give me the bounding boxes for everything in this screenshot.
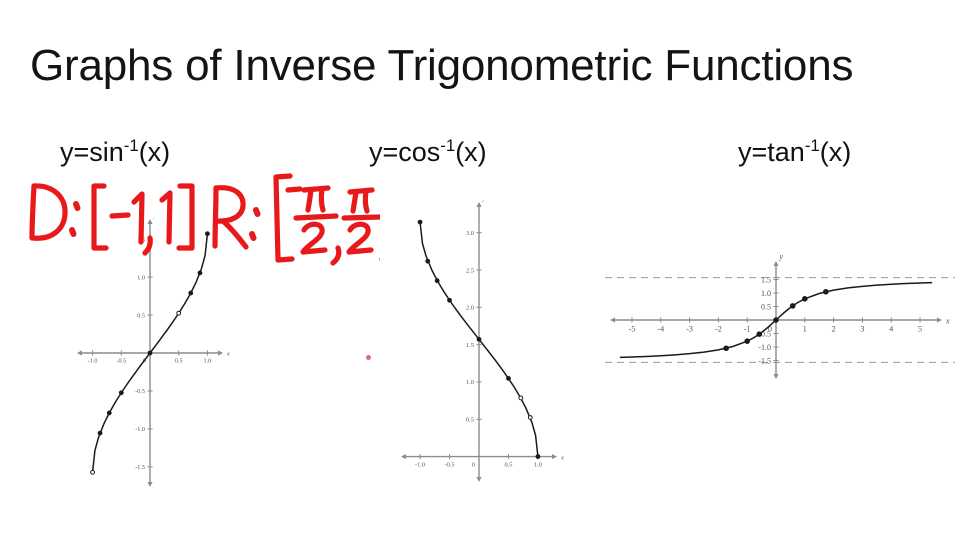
svg-text:2.0: 2.0 bbox=[466, 305, 474, 312]
stray-red-mark bbox=[366, 355, 371, 360]
svg-text:x: x bbox=[560, 454, 564, 461]
svg-text:-4: -4 bbox=[657, 325, 664, 334]
svg-text:0.5: 0.5 bbox=[504, 461, 512, 468]
svg-text:0.5: 0.5 bbox=[466, 417, 474, 424]
svg-text:-1.0: -1.0 bbox=[88, 358, 98, 365]
svg-text:y: y bbox=[482, 200, 486, 202]
panel-label-arcsin: y=sin-1(x) bbox=[60, 136, 170, 168]
svg-text:1: 1 bbox=[803, 325, 807, 334]
svg-text:1.5: 1.5 bbox=[137, 236, 145, 243]
chart-arctan: xy-5-4-3-2-112345-1.5-1.0-0.50.51.01.50 bbox=[605, 250, 955, 390]
panel-label-arcsin-exponent: -1 bbox=[124, 136, 139, 155]
panel-label-arctan-prefix: y=tan bbox=[738, 137, 805, 167]
svg-text:1.5: 1.5 bbox=[761, 275, 771, 284]
svg-text:1.0: 1.0 bbox=[761, 289, 771, 298]
panel-label-arcsin-prefix: y=sin bbox=[60, 137, 124, 167]
svg-text:-1.0: -1.0 bbox=[135, 426, 145, 433]
panel-label-arctan-suffix: (x) bbox=[820, 137, 851, 167]
panel-label-arctan: y=tan-1(x) bbox=[738, 136, 851, 168]
svg-text:-5: -5 bbox=[629, 325, 636, 334]
panel-label-arccos-suffix: (x) bbox=[455, 137, 486, 167]
svg-text:-1: -1 bbox=[744, 325, 751, 334]
svg-text:-1.0: -1.0 bbox=[758, 343, 771, 352]
chart-arccos-svg: xy-1.0-0.50.51.00.51.01.52.02.53.00 bbox=[355, 200, 565, 496]
svg-text:x: x bbox=[226, 351, 230, 358]
svg-text:-2: -2 bbox=[715, 325, 722, 334]
panel-label-arcsin-suffix: (x) bbox=[139, 137, 170, 167]
svg-text:-0.5: -0.5 bbox=[116, 358, 126, 365]
svg-text:y: y bbox=[153, 218, 157, 219]
svg-text:0.5: 0.5 bbox=[175, 358, 183, 365]
chart-arcsin-svg: xy-1.0-0.50.51.0-1.5-1.0-0.50.51.01.50 bbox=[40, 218, 230, 490]
svg-text:-0.5: -0.5 bbox=[135, 388, 145, 395]
svg-text:y: y bbox=[779, 252, 784, 261]
panel-label-arccos: y=cos-1(x) bbox=[369, 136, 487, 168]
svg-text:0.5: 0.5 bbox=[761, 302, 771, 311]
panel-label-arccos-prefix: y=cos bbox=[369, 137, 440, 167]
svg-text:1.0: 1.0 bbox=[466, 379, 474, 386]
slide-canvas: Graphs of Inverse Trigonometric Function… bbox=[0, 0, 960, 540]
svg-text:3.0: 3.0 bbox=[466, 230, 474, 237]
panel-label-arccos-exponent: -1 bbox=[440, 136, 455, 155]
svg-text:-1.5: -1.5 bbox=[135, 464, 145, 471]
svg-text:1.5: 1.5 bbox=[466, 342, 474, 349]
chart-arcsin: xy-1.0-0.50.51.0-1.5-1.0-0.50.51.01.50 bbox=[40, 218, 230, 490]
svg-text:1.0: 1.0 bbox=[534, 461, 542, 468]
svg-text:-1.0: -1.0 bbox=[415, 461, 425, 468]
svg-text:1.0: 1.0 bbox=[137, 274, 145, 281]
svg-text:0.5: 0.5 bbox=[137, 312, 145, 319]
svg-text:4: 4 bbox=[889, 325, 893, 334]
svg-text:x: x bbox=[945, 316, 950, 325]
svg-text:3: 3 bbox=[860, 325, 864, 334]
svg-text:5: 5 bbox=[918, 325, 922, 334]
panel-label-arctan-exponent: -1 bbox=[805, 136, 820, 155]
svg-text:2.5: 2.5 bbox=[466, 267, 474, 274]
page-title: Graphs of Inverse Trigonometric Function… bbox=[30, 38, 950, 94]
chart-arctan-svg: xy-5-4-3-2-112345-1.5-1.0-0.50.51.01.50 bbox=[605, 250, 955, 390]
svg-text:-3: -3 bbox=[686, 325, 693, 334]
svg-text:-0.5: -0.5 bbox=[444, 461, 454, 468]
svg-text:2: 2 bbox=[832, 325, 836, 334]
svg-text:0: 0 bbox=[472, 461, 475, 468]
chart-arccos: xy-1.0-0.50.51.00.51.01.52.02.53.00 bbox=[355, 200, 565, 496]
svg-text:-1.5: -1.5 bbox=[758, 356, 771, 365]
svg-text:1.0: 1.0 bbox=[204, 358, 212, 365]
